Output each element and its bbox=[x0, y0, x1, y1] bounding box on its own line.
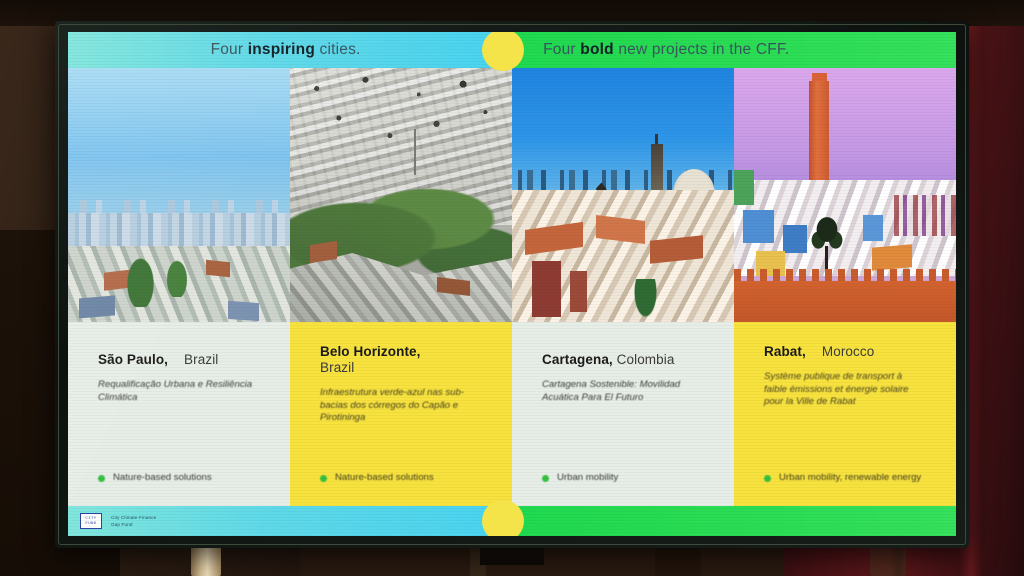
card-country-name: Brazil bbox=[184, 352, 218, 367]
card-title: Belo Horizonte,Brazil bbox=[320, 344, 490, 376]
card-tag: Nature-based solutions bbox=[320, 472, 490, 493]
footer-yellow-circle bbox=[482, 500, 524, 536]
photo-sao-paulo-cityscape bbox=[68, 68, 290, 322]
header-left-text: Four inspiring cities. bbox=[211, 41, 361, 59]
card-project-subtitle: Cartagena Sostenible: Movilidad Acuática… bbox=[542, 379, 702, 404]
card-title: São Paulo,Brazil bbox=[98, 352, 268, 368]
tv-stand bbox=[480, 548, 544, 565]
city-card-rabat[interactable]: Rabat,Morocco Système publique de transp… bbox=[734, 68, 956, 506]
card-project-subtitle: Requalificação Urbana e Resiliência Clim… bbox=[98, 379, 258, 404]
footer-caption-line-1: City Climate Finance bbox=[111, 515, 156, 521]
card-city-name: São Paulo, bbox=[98, 352, 168, 367]
header-left-pre: Four bbox=[211, 41, 248, 58]
header-right-post: new projects in the CFF. bbox=[614, 41, 790, 58]
slide-header-band: Four inspiring cities. Four bold new pro… bbox=[68, 32, 956, 68]
photo-rabat-medina-tower bbox=[734, 68, 956, 322]
city-card-sao-paulo[interactable]: São Paulo,Brazil Requalificação Urbana e… bbox=[68, 68, 290, 506]
television: Four inspiring cities. Four bold new pro… bbox=[55, 21, 969, 548]
header-right-pre: Four bbox=[543, 41, 580, 58]
card-body: Belo Horizonte,Brazil Infraestrutura ver… bbox=[290, 322, 512, 506]
header-right-bold: bold bbox=[580, 41, 614, 58]
card-city-name: Rabat, bbox=[764, 344, 806, 359]
tv-bezel: Four inspiring cities. Four bold new pro… bbox=[55, 21, 969, 548]
header-left-post: cities. bbox=[315, 41, 361, 58]
card-tag-label: Urban mobility bbox=[557, 472, 618, 485]
card-country-name: Brazil bbox=[320, 360, 354, 375]
card-tag: Urban mobility, renewable energy bbox=[764, 472, 934, 493]
footer-caption-line-2: Gap Fund bbox=[111, 522, 156, 528]
footer-caption: City Climate Finance Gap Fund bbox=[111, 515, 156, 528]
gap-fund-logo-icon: CITY FUND bbox=[80, 513, 102, 529]
presentation-slide: Four inspiring cities. Four bold new pro… bbox=[68, 32, 956, 536]
floor-object bbox=[655, 546, 701, 576]
card-tag: Urban mobility bbox=[542, 472, 712, 493]
bullet-dot-icon bbox=[542, 475, 549, 482]
card-country-name: Morocco bbox=[822, 344, 874, 359]
card-project-subtitle: Système publique de transport à faible é… bbox=[764, 371, 924, 409]
room-scene: Four inspiring cities. Four bold new pro… bbox=[0, 0, 1024, 576]
floor-object bbox=[870, 544, 906, 576]
city-cards-row: São Paulo,Brazil Requalificação Urbana e… bbox=[68, 68, 956, 506]
header-right-half: Four bold new projects in the CFF. bbox=[503, 32, 956, 68]
card-country-name: Colombia bbox=[617, 352, 675, 367]
card-tag-label: Urban mobility, renewable energy bbox=[779, 472, 921, 485]
bullet-dot-icon bbox=[764, 475, 771, 482]
city-card-belo-horizonte[interactable]: Belo Horizonte,Brazil Infraestrutura ver… bbox=[290, 68, 512, 506]
bullet-dot-icon bbox=[98, 475, 105, 482]
card-project-subtitle: Infraestrutura verde-azul nas sub-bacias… bbox=[320, 387, 480, 425]
header-left-bold: inspiring bbox=[248, 41, 315, 58]
card-city-name: Belo Horizonte, bbox=[320, 344, 421, 359]
slide-footer-band: CITY FUND City Climate Finance Gap Fund bbox=[68, 506, 956, 536]
header-right-text: Four bold new projects in the CFF. bbox=[543, 41, 789, 59]
footer-left-half: CITY FUND City Climate Finance Gap Fund bbox=[68, 506, 503, 536]
card-title: Cartagena, Colombia bbox=[542, 352, 712, 368]
photo-cartagena-rooftops bbox=[512, 68, 734, 322]
logo-line-1: CITY bbox=[85, 517, 96, 521]
city-card-cartagena[interactable]: Cartagena, Colombia Cartagena Sostenible… bbox=[512, 68, 734, 506]
photo-belo-horizonte-hillside bbox=[290, 68, 512, 322]
footer-right-half bbox=[503, 506, 956, 536]
card-title: Rabat,Morocco bbox=[764, 344, 934, 360]
card-tag: Nature-based solutions bbox=[98, 472, 268, 493]
card-tag-label: Nature-based solutions bbox=[113, 472, 212, 485]
tv-screen: Four inspiring cities. Four bold new pro… bbox=[68, 32, 956, 536]
card-city-name: Cartagena, bbox=[542, 352, 613, 367]
card-tag-label: Nature-based solutions bbox=[335, 472, 434, 485]
card-body: Rabat,Morocco Système publique de transp… bbox=[734, 322, 956, 506]
card-body: São Paulo,Brazil Requalificação Urbana e… bbox=[68, 322, 290, 506]
logo-line-2: FUND bbox=[85, 522, 96, 526]
header-left-half: Four inspiring cities. bbox=[68, 32, 503, 68]
card-body: Cartagena, Colombia Cartagena Sostenible… bbox=[512, 322, 734, 506]
bullet-dot-icon bbox=[320, 475, 327, 482]
